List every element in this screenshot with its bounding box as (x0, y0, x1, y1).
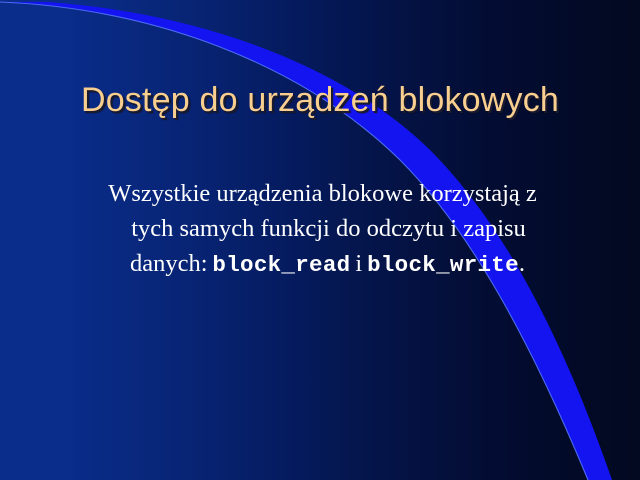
body-line-3-period: . (519, 250, 525, 277)
page-title: Dostęp do urządzeń blokowych (81, 80, 559, 120)
title-block: Dostęp do urządzeń blokowych (0, 57, 640, 143)
code-block-write: block_write (367, 252, 519, 278)
code-block-read: block_read (212, 252, 350, 278)
body-line-3-conjunction: i (350, 250, 367, 277)
presentation-slide: Dostęp do urządzeń blokowych Wszystkie u… (0, 0, 640, 480)
body-line-3: danych: block_read i block_write. (60, 246, 595, 283)
body-line-1: Wszystkie urządzenia blokowe korzystają … (50, 176, 595, 211)
body-text-block: Wszystkie urządzenia blokowe korzystają … (50, 176, 595, 283)
body-line-2: tych samych funkcji do odczytu i zapisu (62, 211, 595, 246)
body-line-3-prefix: danych: (130, 250, 212, 277)
